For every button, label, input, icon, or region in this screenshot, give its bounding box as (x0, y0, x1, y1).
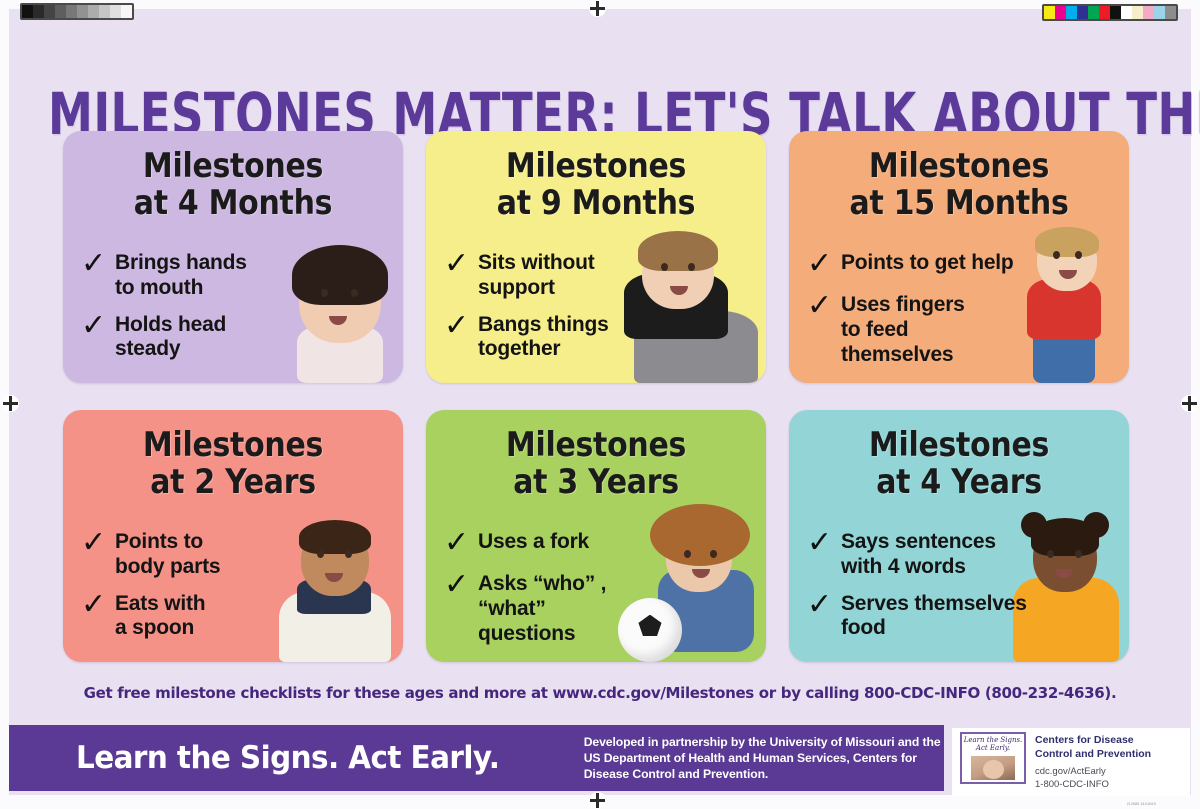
lsae-logo-line2: Act Early. (962, 745, 1024, 753)
card-title-line2: at 4 Years (803, 464, 1115, 501)
checkmark-icon: ✓ (444, 311, 478, 341)
checkmark-icon: ✓ (444, 249, 478, 279)
cdc-website[interactable]: cdc.gov/ActEarly (1035, 766, 1151, 779)
milestone-card-9-months: Milestonesat 9 Months✓Sits without suppo… (426, 131, 766, 383)
milestone-item: ✓Holds head steady (81, 313, 403, 363)
calibration-swatch (33, 5, 44, 18)
lsae-logo-baby-photo (971, 756, 1015, 780)
calibration-swatch (1143, 6, 1154, 19)
card-title: Milestonesat 4 Months (77, 148, 389, 222)
calibration-swatch (99, 5, 110, 18)
milestone-item: ✓Eats with a spoon (81, 592, 403, 642)
milestone-card-4-years: Milestonesat 4 Years✓Says sentences with… (789, 410, 1129, 662)
milestone-card-3-years: Milestonesat 3 Years✓Uses a fork✓Asks “w… (426, 410, 766, 662)
cdc-phone: 1-800-CDC-INFO (1035, 779, 1151, 792)
milestone-list: ✓Brings hands to mouth✓Holds head steady (81, 251, 403, 374)
milestone-list: ✓Sits without support✓Bangs things toget… (444, 251, 766, 374)
calibration-swatch (55, 5, 66, 18)
milestone-item: ✓Points to get help (807, 251, 1129, 281)
milestone-list: ✓Says sentences with 4 words✓Serves them… (807, 530, 1129, 653)
milestone-text: Bangs things together (478, 313, 609, 363)
checkmark-icon: ✓ (807, 291, 841, 321)
milestone-text: Asks “who” , “what” questions (478, 572, 606, 646)
calibration-swatch (1121, 6, 1132, 19)
card-title: Milestonesat 2 Years (77, 427, 389, 501)
card-title-line2: at 3 Years (440, 464, 752, 501)
contact-line: Get free milestone checklists for these … (18, 684, 1182, 702)
registration-mark-right-icon (1181, 395, 1198, 412)
calibration-swatch (121, 5, 132, 18)
checkmark-icon: ✓ (81, 528, 115, 558)
calibration-swatch (1154, 6, 1165, 19)
registration-mark-top-icon (589, 0, 606, 17)
calibration-swatch (1165, 6, 1176, 19)
milestone-text: Says sentences with 4 words (841, 530, 996, 580)
milestone-item: ✓Says sentences with 4 words (807, 530, 1129, 580)
footer-purple-bar: Learn the Signs. Act Early. Developed in… (9, 725, 944, 791)
milestone-item: ✓Sits without support (444, 251, 766, 301)
registration-mark-bottom-icon (589, 792, 606, 809)
checkmark-icon: ✓ (81, 590, 115, 620)
calibration-swatch (1110, 6, 1121, 19)
checkmark-icon: ✓ (807, 249, 841, 279)
grayscale-calibration-strip (20, 3, 134, 20)
card-title: Milestonesat 15 Months (803, 148, 1115, 222)
partnership-credit: Developed in partnership by the Universi… (584, 734, 944, 783)
checkmark-icon: ✓ (81, 311, 115, 341)
milestone-text: Uses fingers to feed themselves (841, 293, 965, 367)
milestone-card-15-months: Milestonesat 15 Months✓Points to get hel… (789, 131, 1129, 383)
card-title-line1: Milestones (506, 426, 686, 465)
milestone-text: Points to body parts (115, 530, 220, 580)
milestone-list: ✓Points to body parts✓Eats with a spoon (81, 530, 403, 653)
cdc-agency-line1: Centers for Disease (1035, 734, 1151, 748)
calibration-swatch (44, 5, 55, 18)
calibration-swatch (1077, 6, 1088, 19)
calibration-swatch (1044, 6, 1055, 19)
milestone-card-grid: Milestonesat 4 Months✓Brings hands to mo… (63, 131, 1147, 662)
card-title-line1: Milestones (143, 147, 323, 186)
calibration-swatch (1099, 6, 1110, 19)
cdc-agency-text: Centers for Disease Control and Preventi… (1035, 732, 1151, 792)
milestone-text: Sits without support (478, 251, 595, 301)
calibration-swatch (22, 5, 33, 18)
card-title-line1: Milestones (869, 426, 1049, 465)
milestone-text: Holds head steady (115, 313, 226, 363)
calibration-swatch (1088, 6, 1099, 19)
program-tagline: Learn the Signs. Act Early. (76, 740, 499, 776)
checkmark-icon: ✓ (81, 249, 115, 279)
calibration-swatch (77, 5, 88, 18)
card-title-line2: at 9 Months (440, 185, 752, 222)
card-title: Milestonesat 3 Years (440, 427, 752, 501)
milestone-item: ✓Asks “who” , “what” questions (444, 572, 766, 646)
milestone-item: ✓Serves themselves food (807, 592, 1129, 642)
checkmark-icon: ✓ (444, 528, 478, 558)
cdc-agency-line2: Control and Prevention (1035, 748, 1151, 762)
milestone-item: ✓Uses a fork (444, 530, 766, 560)
card-title-line2: at 15 Months (803, 185, 1115, 222)
milestone-text: Brings hands to mouth (115, 251, 247, 301)
milestone-text: Serves themselves food (841, 592, 1027, 642)
cdc-logo-block: Learn the Signs. Act Early. Centers for … (952, 728, 1190, 796)
card-title-line2: at 2 Years (77, 464, 389, 501)
milestone-text: Points to get help (841, 251, 1014, 276)
milestone-item: ✓Points to body parts (81, 530, 403, 580)
card-title-line1: Milestones (506, 147, 686, 186)
milestone-item: ✓Brings hands to mouth (81, 251, 403, 301)
color-calibration-strip (1042, 4, 1178, 21)
calibration-swatch (110, 5, 121, 18)
calibration-swatch (1055, 6, 1066, 19)
milestone-item: ✓Uses fingers to feed themselves (807, 293, 1129, 367)
print-job-code: 212685 14JUN19 (1127, 802, 1156, 806)
checkmark-icon: ✓ (807, 528, 841, 558)
poster-canvas: MILESTONES MATTER: LET'S TALK ABOUT THEM… (0, 0, 1200, 809)
registration-mark-left-icon (2, 395, 19, 412)
card-title: Milestonesat 4 Years (803, 427, 1115, 501)
milestone-list: ✓Uses a fork✓Asks “who” , “what” questio… (444, 530, 766, 658)
calibration-swatch (1132, 6, 1143, 19)
card-title: Milestonesat 9 Months (440, 148, 752, 222)
card-title-line1: Milestones (143, 426, 323, 465)
card-title-line2: at 4 Months (77, 185, 389, 222)
checkmark-icon: ✓ (444, 570, 478, 600)
calibration-swatch (1066, 6, 1077, 19)
milestone-text: Uses a fork (478, 530, 589, 555)
calibration-swatch (88, 5, 99, 18)
milestone-card-2-years: Milestonesat 2 Years✓Points to body part… (63, 410, 403, 662)
milestone-list: ✓Points to get help✓Uses fingers to feed… (807, 251, 1129, 379)
card-title-line1: Milestones (869, 147, 1049, 186)
checkmark-icon: ✓ (807, 590, 841, 620)
milestone-text: Eats with a spoon (115, 592, 205, 642)
milestone-card-4-months: Milestonesat 4 Months✓Brings hands to mo… (63, 131, 403, 383)
milestone-item: ✓Bangs things together (444, 313, 766, 363)
learn-the-signs-logo-icon: Learn the Signs. Act Early. (960, 732, 1026, 784)
calibration-swatch (66, 5, 77, 18)
